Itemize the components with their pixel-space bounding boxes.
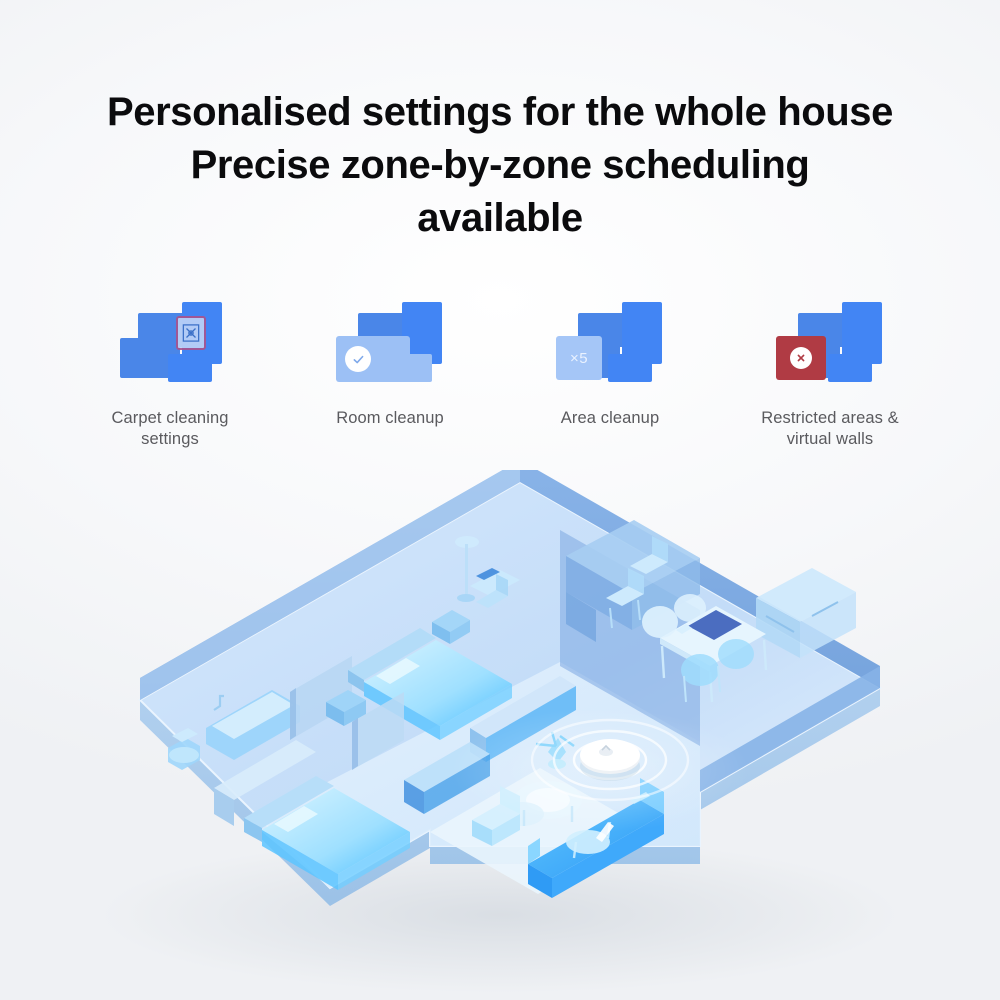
carpet-rug-badge [176,316,206,350]
page-title-line-3: available [0,192,1000,245]
plan-block-bottom [168,354,212,382]
floor-glow [450,708,750,832]
floorplan-svg [0,470,1000,1000]
floorplan-illustration [0,470,1000,1000]
check-icon [352,353,365,366]
feature-room-cleanup[interactable]: Room cleanup [280,296,500,476]
carpet-cleaning-icon [110,296,230,386]
area-multiplier-text: ×5 [570,350,588,367]
feature-carpet-cleaning-settings[interactable]: Carpet cleaning settings [60,296,280,476]
plan-block-bottom [608,354,652,382]
feature-label: Carpet cleaning settings [111,408,228,450]
selected-room-badge [336,336,410,382]
feature-label: Room cleanup [336,408,444,429]
plan-block-bottom [828,354,872,382]
restricted-areas-icon [770,296,890,386]
page-title-line-1: Personalised settings for the whole hous… [0,86,1000,139]
forbidden-chip [790,347,812,369]
feature-label: Area cleanup [561,408,659,429]
restricted-zone-badge [776,336,826,380]
area-cleanup-icon: ×5 [550,296,670,386]
area-multiplier-badge: ×5 [556,336,602,380]
close-x-icon [795,352,807,364]
page-title: Personalised settings for the whole hous… [0,86,1000,245]
feature-list: Carpet cleaning settings Room cleanup [60,296,940,476]
feature-restricted-areas[interactable]: Restricted areas & virtual walls [720,296,940,476]
check-chip [345,346,371,372]
page-title-line-2: Precise zone-by-zone scheduling [0,139,1000,192]
room-cleanup-icon [330,296,450,386]
rug-icon [182,323,200,343]
feature-area-cleanup[interactable]: ×5 Area cleanup [500,296,720,476]
feature-label: Restricted areas & virtual walls [761,408,899,450]
